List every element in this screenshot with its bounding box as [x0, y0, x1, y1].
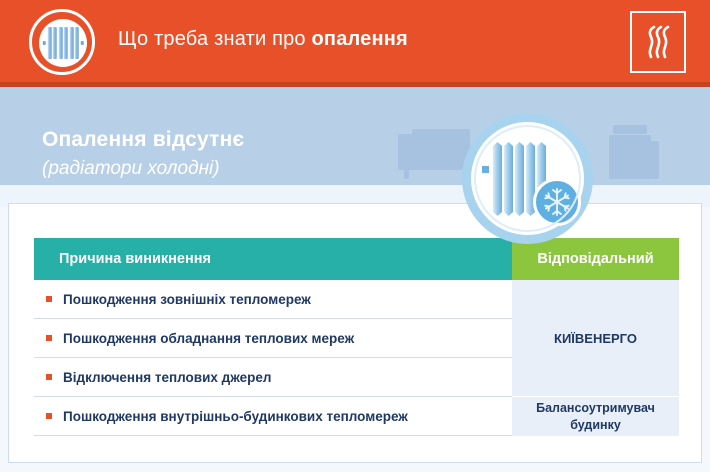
heat-waves-icon [630, 11, 686, 73]
responsible-group-kyivenergo: КИЇВЕНЕРГО [512, 280, 679, 397]
column-header-cause: Причина виникнення [34, 238, 512, 280]
cause-label: Пошкодження внутрішньо-будинкових теплом… [63, 409, 408, 424]
bullet-icon [46, 374, 52, 380]
bullet-icon [46, 335, 52, 341]
radiator-circle-icon [29, 9, 95, 75]
cause-label: Пошкодження зовнішніх тепломереж [63, 292, 311, 307]
sofa-back-silhouette [412, 129, 470, 141]
table-row[interactable]: Пошкодження обладнання теплових мереж [34, 319, 512, 358]
table-header-row: Причина виникнення Відповідальний [34, 238, 679, 280]
responsible-group-balance-holder: Балансоутримувач будинку [512, 397, 679, 436]
table-row[interactable]: Пошкодження зовнішніх тепломереж [34, 280, 512, 319]
table-row[interactable]: Відключення теплових джерел [34, 358, 512, 397]
radiator-valve-icon [482, 166, 489, 173]
cause-label: Пошкодження обладнання теплових мереж [63, 331, 354, 346]
page-title: Що треба знати про опалення [118, 28, 408, 51]
page-title-bold: опалення [312, 28, 408, 50]
radiator-glyph [43, 27, 84, 59]
column-header-responsible: Відповідальний [512, 238, 679, 280]
page-header: Що треба знати про опалення [0, 0, 710, 82]
snowflake-icon [533, 178, 581, 226]
radiator-illustration [493, 142, 546, 216]
responsible-column: КИЇВЕНЕРГО Балансоутримувач будинку [512, 280, 679, 436]
causes-table: Причина виникнення Відповідальний Пошкод… [34, 238, 679, 436]
bullet-icon [46, 296, 52, 302]
content-card: Причина виникнення Відповідальний Пошкод… [8, 203, 702, 463]
hero-title: Опалення відсутнє [42, 128, 244, 152]
table-row[interactable]: Пошкодження внутрішньо-будинкових теплом… [34, 397, 512, 436]
sofa-leg-left-silhouette [404, 170, 409, 179]
hero-subtitle: (радіатори холодні) [42, 158, 220, 180]
cause-column: Пошкодження зовнішніх тепломереж Пошкодж… [34, 280, 512, 436]
cabinet-top-silhouette [613, 125, 647, 134]
sofa-seat-silhouette [414, 140, 470, 170]
bullet-icon [46, 413, 52, 419]
page-title-regular: Що треба знати про [118, 28, 312, 50]
cause-label: Відключення теплових джерел [63, 370, 271, 385]
infographic-page: Що треба знати про опалення Опалення від… [0, 0, 710, 472]
table-body: Пошкодження зовнішніх тепломереж Пошкодж… [34, 280, 679, 436]
cabinet-body-silhouette [609, 135, 651, 179]
cabinet-side-silhouette [651, 141, 659, 179]
cold-radiator-snowflake-icon [462, 113, 593, 244]
radiator-circle-icon-inner [39, 19, 87, 67]
